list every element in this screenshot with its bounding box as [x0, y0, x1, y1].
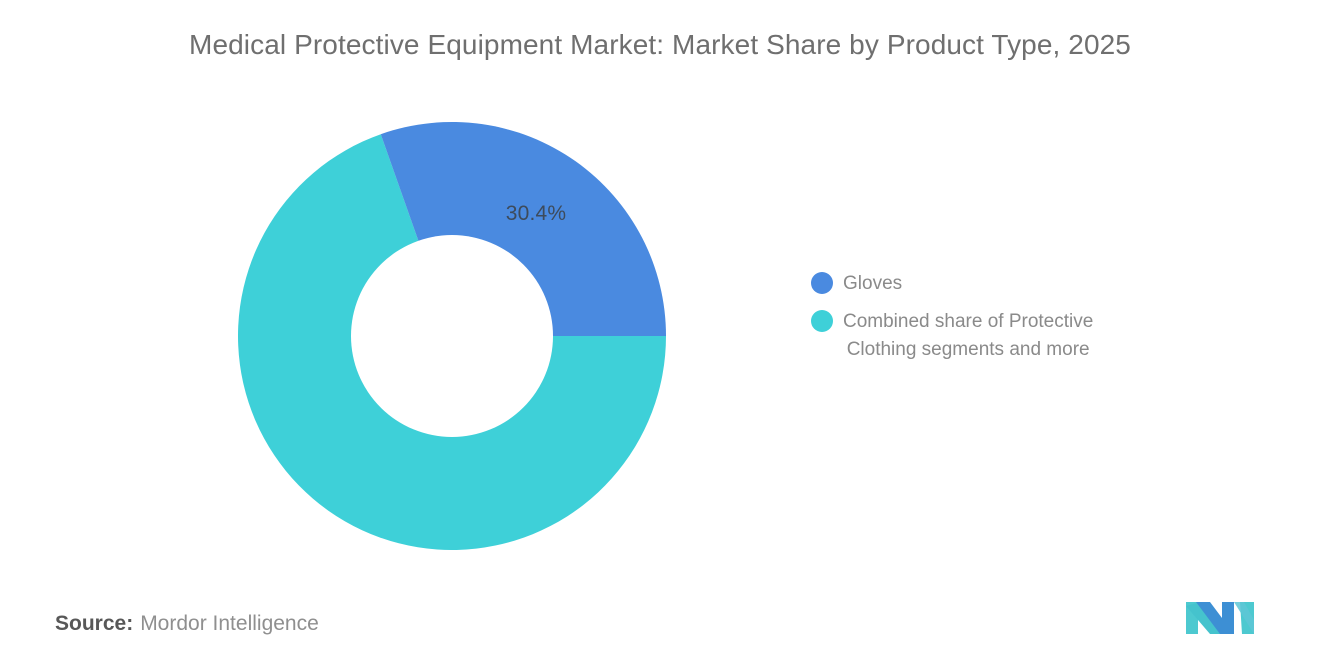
legend-item-combined-share[interactable]: Combined share of Protective Clothing se…: [811, 308, 1211, 364]
mordor-intelligence-logo-icon: [1184, 598, 1256, 638]
donut-chart-svg: [238, 122, 666, 550]
donut-chart: [238, 122, 666, 550]
legend-label-combined-share: Combined share of Protective Clothing se…: [843, 308, 1093, 364]
legend-swatch-combined-share: [811, 310, 833, 332]
chart-canvas: Medical Protective Equipment Market: Mar…: [0, 0, 1320, 665]
donut-data-label-gloves: 30.4%: [490, 202, 582, 226]
donut-hole: [351, 235, 553, 437]
source-label: Source:: [55, 612, 133, 635]
source-value: Mordor Intelligence: [140, 612, 319, 635]
source-line: Source:Mordor Intelligence: [55, 612, 319, 636]
page-title: Medical Protective Equipment Market: Mar…: [0, 29, 1320, 61]
legend-swatch-gloves: [811, 272, 833, 294]
legend-label-gloves: Gloves: [843, 270, 902, 298]
legend-label-line-1: Combined share of Protective: [843, 311, 1093, 332]
legend-item-gloves[interactable]: Gloves: [811, 270, 1211, 298]
chart-legend: Gloves Combined share of Protective Clot…: [811, 270, 1211, 374]
legend-label-line-2: Clothing segments and more: [847, 339, 1090, 360]
